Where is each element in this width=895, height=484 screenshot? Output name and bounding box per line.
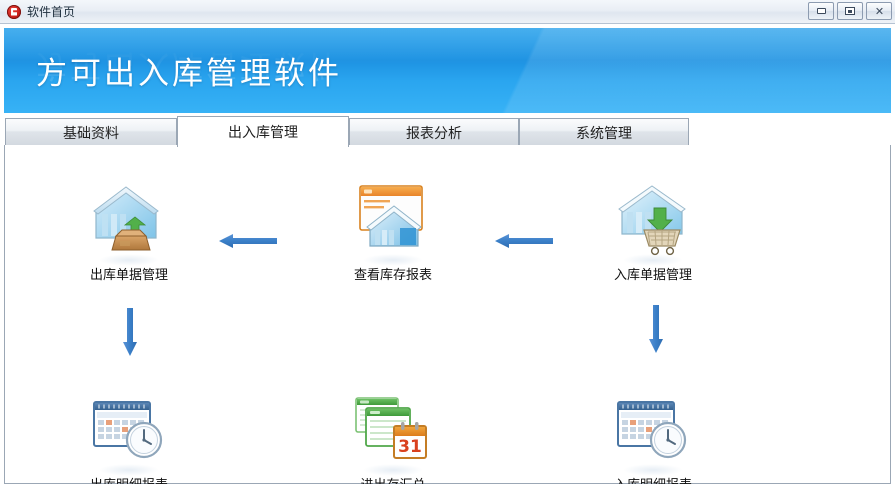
icon-reflection [99,464,159,476]
tile-label: 入库单据管理 [614,264,692,283]
calendar-clock-icon [86,390,172,466]
green-windows-calendar-icon: 31 [350,390,436,466]
tile-label: 出库单据管理 [90,264,168,283]
arrow-outbound-to-detail [122,308,138,356]
icon-reflection [623,464,683,476]
maximize-button[interactable] [837,2,863,20]
icon-reflection [99,254,159,266]
app-banner: 方可出入库管理软件 方可出入库管理软件 [4,28,891,113]
warehouse-box-up-arrow-icon [86,180,172,256]
application-window: 软件首页 ✕ 方可出入库管理软件 方可出入库管理软件 基础资料出入库管理报表分析… [0,0,895,484]
window-controls: ✕ [808,2,892,20]
tab-strip: 基础资料出入库管理报表分析系统管理 [4,116,891,146]
tab-basic-data[interactable]: 基础资料 [5,118,177,146]
tile-inbound-document-management[interactable]: 入库单据管理 [573,180,733,283]
warehouse-cart-down-arrow-icon [610,180,696,256]
window-warehouse-icon [350,180,436,256]
tile-outbound-document-management[interactable]: 出库单据管理 [49,180,209,283]
minimize-icon [817,8,826,14]
maximize-icon [845,7,855,15]
tab-report-analysis[interactable]: 报表分析 [349,118,519,146]
icon-reflection [363,464,423,476]
tile-view-stock-report[interactable]: 查看库存报表 [313,180,473,283]
tile-inventory-summary[interactable]: 31 进出存汇总 [313,390,473,484]
calendar-clock-icon [610,390,696,466]
arrow-inbound-to-detail [648,305,664,353]
title-bar: 软件首页 ✕ [0,0,895,24]
tab-label: 报表分析 [406,123,462,143]
minimize-button[interactable] [808,2,834,20]
arrow-inbound-to-stock-report [495,233,553,249]
close-icon: ✕ [875,6,883,17]
banner-title-reflection: 方可出入库管理软件 [36,46,342,91]
tile-inbound-detail-report[interactable]: 入库明细报表 [573,390,733,484]
tile-outbound-detail-report[interactable]: 出库明细报表 [49,390,209,484]
content-panel: 出库单据管理 查看库存报表 [4,145,891,484]
svg-text:31: 31 [398,437,422,457]
icon-reflection [363,254,423,266]
icon-reflection [623,254,683,266]
tab-label: 出入库管理 [228,122,298,142]
close-button[interactable]: ✕ [866,2,892,20]
tab-inout-management[interactable]: 出入库管理 [177,116,349,147]
tab-label: 系统管理 [576,123,632,143]
app-logo-icon [7,5,21,19]
tile-label: 查看库存报表 [354,264,432,283]
tab-system-management[interactable]: 系统管理 [519,118,689,146]
window-title: 软件首页 [27,5,75,19]
arrow-stock-report-to-outbound [219,233,277,249]
title-bar-left: 软件首页 [0,5,75,19]
tab-label: 基础资料 [63,123,119,143]
